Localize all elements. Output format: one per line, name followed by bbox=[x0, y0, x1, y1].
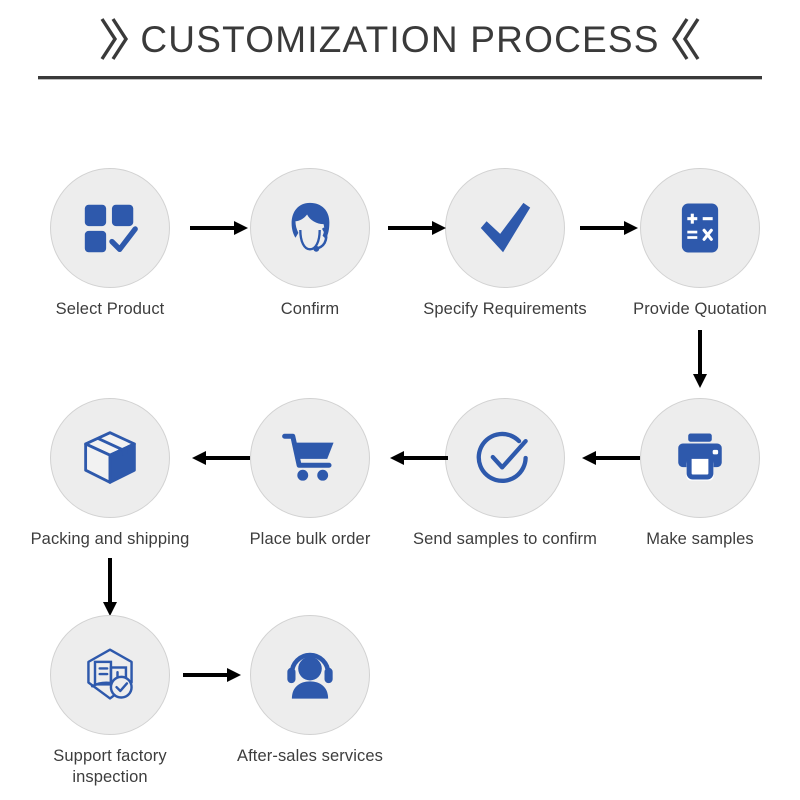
step-label: Send samples to confirm bbox=[410, 529, 600, 550]
arrow-right-select-to-confirm bbox=[190, 218, 250, 238]
step-icon-circle bbox=[640, 398, 760, 518]
step-icon-circle bbox=[50, 398, 170, 518]
printer-icon bbox=[671, 429, 729, 487]
arrow-right-inspection-to-after-sales bbox=[183, 665, 243, 685]
step-label: Confirm bbox=[215, 299, 405, 320]
process-step-after-sales-services[interactable]: After-sales services bbox=[215, 615, 405, 767]
step-label: Support factory inspection bbox=[15, 746, 205, 788]
arrow-right-specify-to-quotation bbox=[580, 218, 640, 238]
process-step-make-samples[interactable]: Make samples bbox=[605, 398, 795, 550]
shopping-cart-icon bbox=[281, 429, 339, 487]
step-label: Make samples bbox=[605, 529, 795, 550]
arrow-left-send-to-bulk-order bbox=[388, 448, 448, 468]
factory-shield-check-icon bbox=[80, 645, 140, 705]
process-step-place-bulk-order[interactable]: Place bulk order bbox=[215, 398, 405, 550]
arrow-left-make-samples-to-send bbox=[580, 448, 640, 468]
step-icon-circle bbox=[640, 168, 760, 288]
step-icon-circle bbox=[445, 168, 565, 288]
headphones-person-icon bbox=[281, 646, 339, 704]
step-label: After-sales services bbox=[215, 746, 405, 767]
step-label: Select Product bbox=[15, 299, 205, 320]
step-label: Specify Requirements bbox=[410, 299, 600, 320]
process-step-send-samples-to-confirm[interactable]: Send samples to confirm bbox=[410, 398, 600, 550]
arrow-right-confirm-to-specify bbox=[388, 218, 448, 238]
step-icon-circle bbox=[50, 168, 170, 288]
step-label: Provide Quotation bbox=[605, 299, 795, 320]
step-label: Place bulk order bbox=[215, 529, 405, 550]
arrow-left-bulk-order-to-packing bbox=[190, 448, 250, 468]
process-step-confirm[interactable]: Confirm bbox=[215, 168, 405, 320]
process-step-provide-quotation[interactable]: Provide Quotation bbox=[605, 168, 795, 320]
grid-squares-check-icon bbox=[79, 197, 141, 259]
step-icon-circle bbox=[50, 615, 170, 735]
process-step-packing-and-shipping[interactable]: Packing and shipping bbox=[15, 398, 205, 550]
support-agent-headset-icon bbox=[279, 197, 341, 259]
process-flow: Select Product Confirm Specify Requirem bbox=[0, 0, 800, 800]
process-step-support-factory-inspection[interactable]: Support factory inspection bbox=[15, 615, 205, 788]
step-icon-circle bbox=[250, 398, 370, 518]
step-icon-circle bbox=[445, 398, 565, 518]
checkmark-icon bbox=[474, 197, 536, 259]
arrow-down-quotation-to-make-samples bbox=[690, 330, 710, 390]
process-step-specify-requirements[interactable]: Specify Requirements bbox=[410, 168, 600, 320]
calculator-icon bbox=[671, 199, 729, 257]
step-label: Packing and shipping bbox=[15, 529, 205, 550]
package-box-icon bbox=[80, 428, 140, 488]
process-step-select-product[interactable]: Select Product bbox=[15, 168, 205, 320]
arrow-down-packing-to-inspection bbox=[100, 558, 120, 618]
step-icon-circle bbox=[250, 615, 370, 735]
step-icon-circle bbox=[250, 168, 370, 288]
circle-check-outline-icon bbox=[475, 428, 535, 488]
